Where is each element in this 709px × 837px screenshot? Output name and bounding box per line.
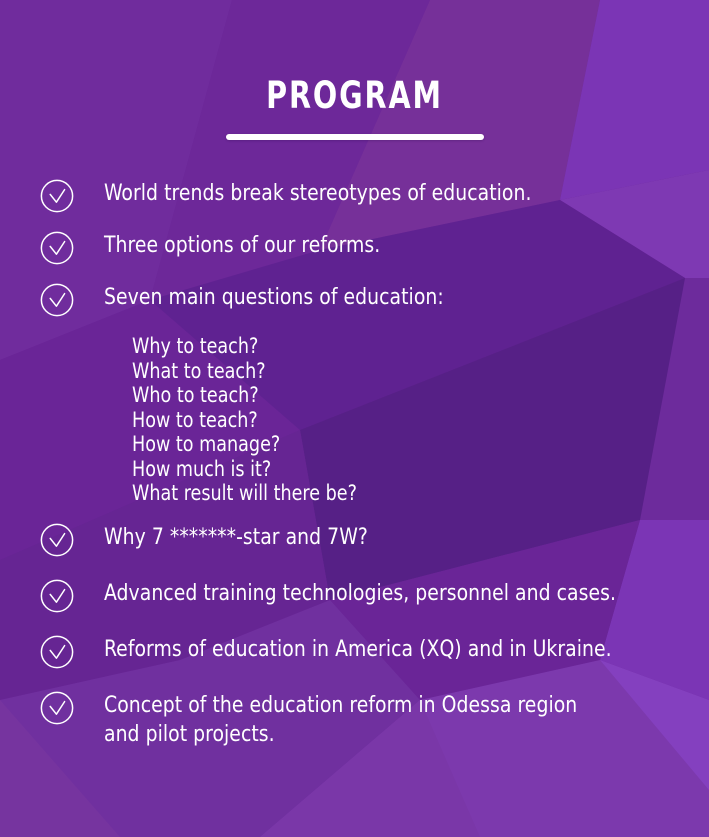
title-block: PROGRAM [0, 74, 709, 140]
list-item: Advanced training technologies, personne… [0, 576, 709, 620]
sub-list-item: How to teach? [132, 408, 669, 433]
program-slide: PROGRAM World trends break stereotypes o… [0, 0, 709, 837]
seven-questions-list: Why to teach? What to teach? Who to teac… [0, 334, 709, 506]
list-item-label: Seven main questions of education: [104, 280, 444, 312]
sub-list-item: What result will there be? [132, 481, 669, 506]
sub-list-item: How much is it? [132, 457, 669, 482]
sub-list-item: What to teach? [132, 359, 669, 384]
list-item: Concept of the education reform in Odess… [0, 688, 709, 749]
list-item: Three options of our reforms. [0, 228, 709, 272]
check-circle-icon [39, 634, 75, 670]
page-title: PROGRAM [50, 74, 660, 118]
list-item-label: World trends break stereotypes of educat… [104, 176, 531, 208]
list-item-label: Why 7 *******-star and 7W? [104, 520, 368, 552]
list-item: World trends break stereotypes of educat… [0, 176, 709, 220]
list-item-label: Concept of the education reform in Odess… [104, 688, 577, 749]
program-checklist: World trends break stereotypes of educat… [0, 176, 709, 757]
check-circle-icon [39, 690, 75, 726]
sub-list-container: Why to teach? What to teach? Who to teac… [0, 334, 709, 506]
sub-list-item: How to manage? [132, 432, 669, 457]
sub-list-item: Why to teach? [132, 334, 669, 359]
check-circle-icon [39, 230, 75, 266]
sub-list-item: Who to teach? [132, 383, 669, 408]
list-item-label: Advanced training technologies, personne… [104, 576, 616, 608]
check-circle-icon [39, 522, 75, 558]
list-item-label: Reforms of education in America (XQ) and… [104, 632, 612, 664]
list-item: Reforms of education in America (XQ) and… [0, 632, 709, 676]
check-circle-icon [39, 282, 75, 318]
list-item-label: Three options of our reforms. [104, 228, 380, 260]
list-item: Why 7 *******-star and 7W? [0, 520, 709, 564]
check-circle-icon [39, 178, 75, 214]
list-item: Seven main questions of education: [0, 280, 709, 324]
title-underline-rule [226, 134, 484, 140]
check-circle-icon [39, 578, 75, 614]
